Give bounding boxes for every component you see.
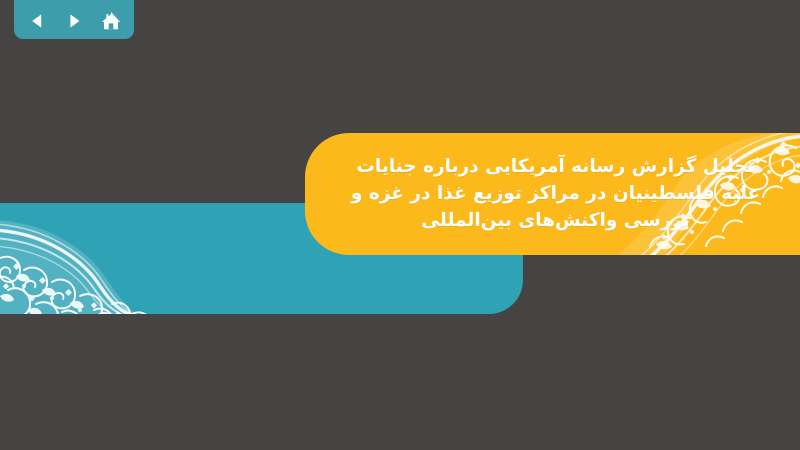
forward-button[interactable] <box>62 9 86 33</box>
arabesque-corner-ornament <box>0 203 209 314</box>
home-button[interactable] <box>99 9 123 33</box>
banner-title: تحلیل گزارش رسانه آمریکایی درباره جنایات… <box>305 133 800 255</box>
title-banner: تحلیل گزارش رسانه آمریکایی درباره جنایات… <box>305 133 800 255</box>
slide-canvas: تحلیل گزارش رسانه آمریکایی درباره جنایات… <box>0 0 800 450</box>
back-arrow-icon <box>27 11 47 31</box>
forward-arrow-icon <box>64 11 84 31</box>
home-icon <box>100 10 122 32</box>
title-line-2: علیه فلسطینیان در مراکز توزیع غذا در غزه… <box>351 181 760 207</box>
title-line-1: تحلیل گزارش رسانه آمریکایی درباره جنایات <box>356 154 754 180</box>
back-button[interactable] <box>25 9 49 33</box>
title-line-3: بررسی واکنش‌های بین‌المللی <box>421 208 690 234</box>
navigation-bar <box>14 0 134 39</box>
